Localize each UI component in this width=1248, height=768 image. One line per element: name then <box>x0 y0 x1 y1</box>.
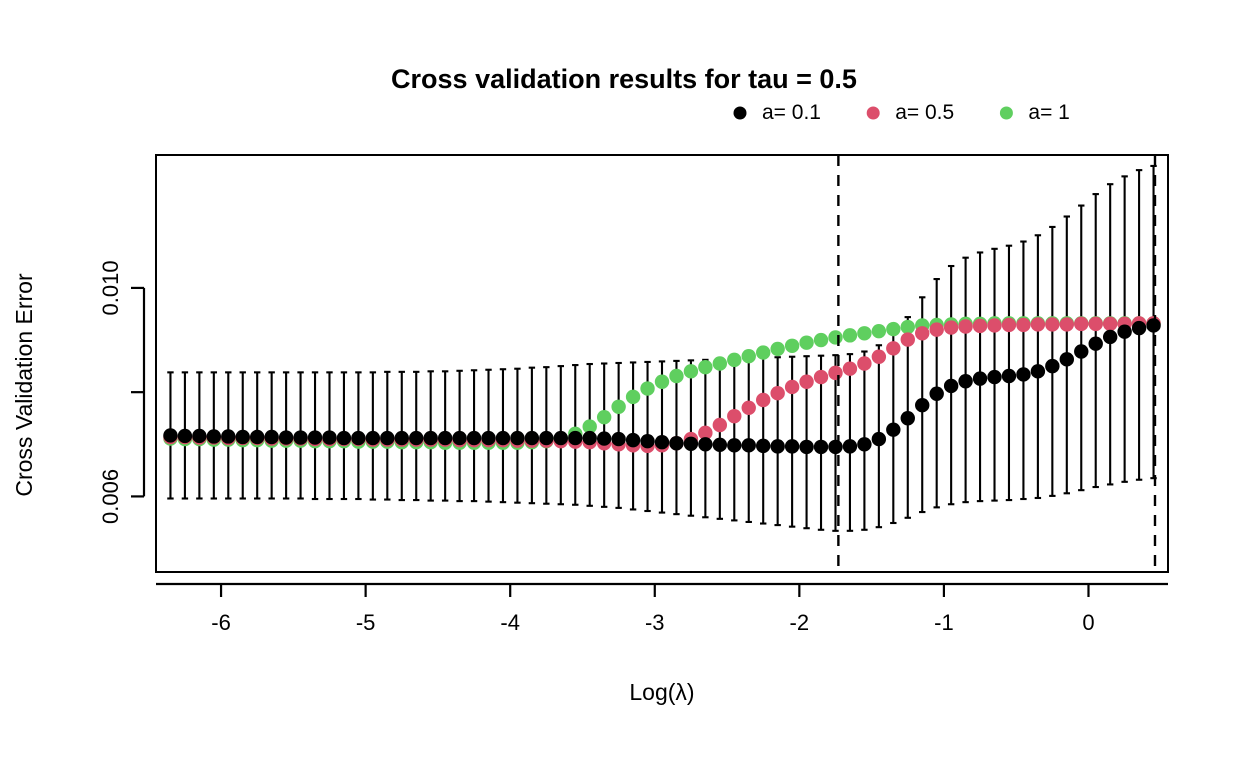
data-point <box>1031 317 1045 331</box>
data-point <box>669 369 683 383</box>
data-point <box>843 362 857 376</box>
data-point <box>380 431 394 445</box>
data-point <box>872 432 886 446</box>
data-point <box>929 387 943 401</box>
data-point <box>409 431 423 445</box>
data-point <box>655 435 669 449</box>
x-tick-label: -5 <box>356 610 376 635</box>
data-point <box>640 381 654 395</box>
data-point <box>987 318 1001 332</box>
data-point <box>496 431 510 445</box>
data-point <box>756 345 770 359</box>
data-point <box>539 431 553 445</box>
data-point <box>423 431 437 445</box>
y-tick-label: 0.010 <box>98 260 123 315</box>
data-point <box>293 430 307 444</box>
data-point <box>351 431 365 445</box>
data-point <box>481 431 495 445</box>
data-point <box>626 390 640 404</box>
data-point <box>1016 367 1030 381</box>
data-point <box>901 332 915 346</box>
data-point <box>915 398 929 412</box>
data-point <box>987 370 1001 384</box>
data-point <box>264 430 278 444</box>
data-point <box>322 430 336 444</box>
chart-canvas: Cross validation results for tau = 0.5 a… <box>0 0 1248 768</box>
data-point <box>250 430 264 444</box>
data-point <box>279 430 293 444</box>
data-point <box>1089 336 1103 350</box>
data-point <box>958 374 972 388</box>
data-point <box>583 431 597 445</box>
data-point <box>1045 359 1059 373</box>
data-point <box>395 431 409 445</box>
data-point <box>611 432 625 446</box>
data-point <box>554 431 568 445</box>
data-point <box>698 360 712 374</box>
data-point <box>1117 325 1131 339</box>
data-point <box>814 333 828 347</box>
data-point <box>597 431 611 445</box>
data-point <box>814 440 828 454</box>
data-point <box>843 439 857 453</box>
data-point <box>799 375 813 389</box>
data-point <box>438 431 452 445</box>
data-point <box>814 370 828 384</box>
data-point <box>669 436 683 450</box>
data-point <box>236 430 250 444</box>
data-point <box>872 350 886 364</box>
data-point <box>944 320 958 334</box>
x-tick-label: 0 <box>1082 610 1094 635</box>
data-point <box>366 431 380 445</box>
data-point <box>1060 317 1074 331</box>
data-point <box>742 349 756 363</box>
data-point <box>886 322 900 336</box>
x-tick-label: -4 <box>500 610 520 635</box>
data-point <box>655 375 669 389</box>
legend-label: a= 0.1 <box>762 101 821 124</box>
data-point <box>452 431 466 445</box>
data-point <box>727 353 741 367</box>
data-point <box>727 438 741 452</box>
data-point <box>221 429 235 443</box>
data-point <box>207 429 221 443</box>
chart-title: Cross validation results for tau = 0.5 <box>391 64 857 94</box>
data-point <box>467 431 481 445</box>
data-point <box>973 371 987 385</box>
data-point <box>799 440 813 454</box>
data-point <box>828 366 842 380</box>
data-point <box>857 356 871 370</box>
data-point <box>799 335 813 349</box>
data-point <box>770 439 784 453</box>
data-point <box>1002 318 1016 332</box>
data-point <box>770 386 784 400</box>
cross-validation-plot: Cross validation results for tau = 0.5 a… <box>0 0 1248 768</box>
data-point <box>1103 317 1117 331</box>
x-tick-label: -3 <box>645 610 665 635</box>
data-point <box>973 319 987 333</box>
data-point <box>1074 317 1088 331</box>
data-point <box>525 431 539 445</box>
data-point <box>958 319 972 333</box>
data-point <box>944 379 958 393</box>
data-point <box>510 431 524 445</box>
data-point <box>713 356 727 370</box>
legend-marker <box>734 107 747 120</box>
data-point <box>597 410 611 424</box>
data-point <box>901 411 915 425</box>
data-point <box>915 326 929 340</box>
y-axis-label: Cross Validation Error <box>11 273 37 497</box>
data-point <box>1132 321 1146 335</box>
data-point <box>568 431 582 445</box>
data-point <box>1103 330 1117 344</box>
data-point <box>886 341 900 355</box>
data-point <box>698 437 712 451</box>
data-point <box>1060 352 1074 366</box>
data-point <box>192 429 206 443</box>
data-point <box>857 437 871 451</box>
data-point <box>1031 364 1045 378</box>
data-point <box>785 439 799 453</box>
data-point <box>727 409 741 423</box>
data-point <box>785 339 799 353</box>
data-point <box>742 401 756 415</box>
data-point <box>785 380 799 394</box>
data-point <box>640 434 654 448</box>
x-tick-label: -1 <box>934 610 954 635</box>
data-point <box>308 430 322 444</box>
data-point <box>163 428 177 442</box>
data-point <box>1002 369 1016 383</box>
data-point <box>828 330 842 344</box>
data-point <box>713 418 727 432</box>
data-point <box>1045 317 1059 331</box>
data-point <box>713 438 727 452</box>
data-point <box>756 393 770 407</box>
data-point <box>742 438 756 452</box>
data-point <box>1074 344 1088 358</box>
legend-marker <box>1000 107 1013 120</box>
data-point <box>756 439 770 453</box>
data-point <box>626 433 640 447</box>
data-point <box>886 422 900 436</box>
x-axis-label: Log(λ) <box>629 679 694 705</box>
x-tick-label: -2 <box>790 610 810 635</box>
data-point <box>1146 318 1160 332</box>
data-point <box>857 326 871 340</box>
data-point <box>1016 318 1030 332</box>
data-point <box>337 431 351 445</box>
data-point <box>1089 317 1103 331</box>
data-point <box>872 324 886 338</box>
data-point <box>828 440 842 454</box>
data-point <box>929 322 943 336</box>
legend-label: a= 0.5 <box>895 101 954 124</box>
data-point <box>611 400 625 414</box>
data-point <box>178 429 192 443</box>
legend-label: a= 1 <box>1028 101 1069 124</box>
y-tick-label: 0.006 <box>98 469 123 524</box>
data-point <box>901 320 915 334</box>
x-tick-label: -6 <box>211 610 231 635</box>
data-point <box>843 328 857 342</box>
data-point <box>770 342 784 356</box>
data-point <box>684 364 698 378</box>
data-point <box>684 437 698 451</box>
legend-marker <box>867 107 880 120</box>
